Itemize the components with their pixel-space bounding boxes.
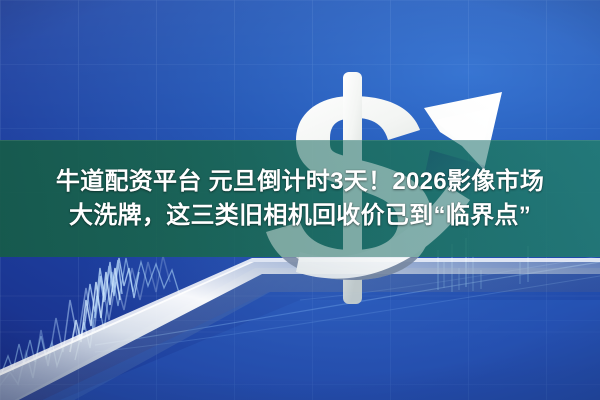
headline-block: 牛道配资平台 元旦倒计时3天！2026影像市场 大洗牌，这三类旧相机回收价已到“… [0,140,600,257]
banner-image: 牛道配资平台 元旦倒计时3天！2026影像市场 大洗牌，这三类旧相机回收价已到“… [0,0,600,400]
headline-line-2: 大洗牌，这三类旧相机回收价已到“临界点” [69,201,531,230]
headline-line-1: 牛道配资平台 元旦倒计时3天！2026影像市场 [56,167,544,196]
